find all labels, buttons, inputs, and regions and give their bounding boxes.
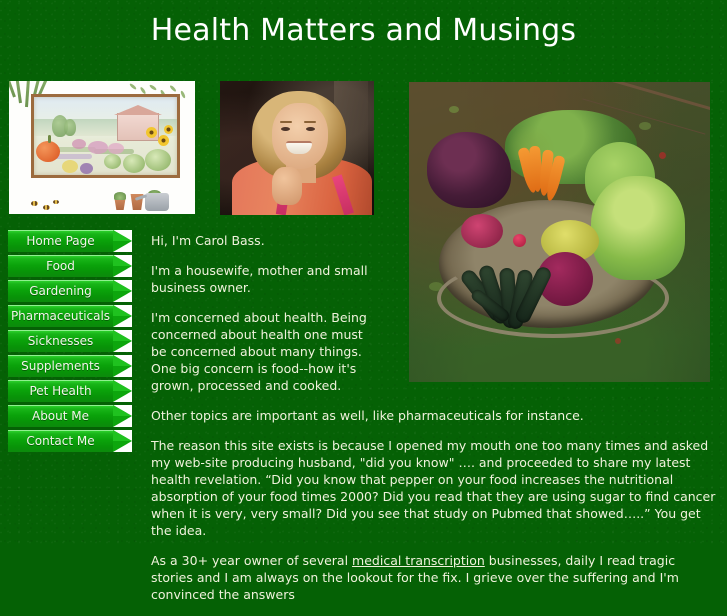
nav-item-about-me[interactable]: About Me (8, 405, 132, 427)
medical-transcription-link[interactable]: medical transcription (352, 553, 485, 568)
nav-item-label: Gardening (8, 280, 113, 302)
intro-paragraph: Hi, I'm Carol Bass. (151, 232, 379, 249)
main-navigation[interactable]: Home Page Food Gardening Pharmaceuticals… (8, 230, 132, 455)
nav-item-home-page[interactable]: Home Page (8, 230, 132, 252)
purple-kale (427, 132, 511, 208)
nav-item-label: Pharmaceuticals (8, 305, 113, 327)
watering-can-decoration (145, 193, 169, 211)
bio-paragraph: I'm a housewife, mother and small busine… (151, 262, 379, 296)
nav-item-pet-health[interactable]: Pet Health (8, 380, 132, 402)
garden-watercolor-illustration (9, 81, 195, 214)
nav-item-label: Home Page (8, 230, 113, 252)
nav-item-label: Sicknesses (8, 330, 113, 352)
nav-item-label: Contact Me (8, 430, 113, 452)
nav-item-label: Pet Health (8, 380, 113, 402)
site-origin-paragraph: The reason this site exists is because I… (151, 437, 717, 539)
author-portrait-photo (220, 81, 374, 215)
health-concern-paragraph: I'm concerned about health. Being concer… (151, 309, 379, 394)
other-topics-paragraph: Other topics are important as well, like… (151, 407, 717, 424)
framed-garden-scene (31, 94, 180, 178)
nav-item-label: About Me (8, 405, 113, 427)
carrot (517, 148, 528, 194)
nav-item-pharmaceuticals[interactable]: Pharmaceuticals (8, 305, 132, 327)
nav-item-label: Food (8, 255, 113, 277)
nav-item-contact-me[interactable]: Contact Me (8, 430, 132, 452)
nav-item-food[interactable]: Food (8, 255, 132, 277)
nav-item-gardening[interactable]: Gardening (8, 280, 132, 302)
carrot (529, 146, 540, 192)
page-root: Health Matters and Musings (0, 0, 727, 545)
career-text-before: As a 30+ year owner of several (151, 553, 352, 568)
main-content: Hi, I'm Carol Bass. I'm a housewife, mot… (151, 232, 717, 616)
career-paragraph: As a 30+ year owner of several medical t… (151, 552, 717, 603)
nav-item-label: Supplements (8, 355, 113, 377)
page-title: Health Matters and Musings (0, 13, 727, 48)
nav-item-sicknesses[interactable]: Sicknesses (8, 330, 132, 352)
nav-item-supplements[interactable]: Supplements (8, 355, 132, 377)
carrot (555, 156, 566, 202)
